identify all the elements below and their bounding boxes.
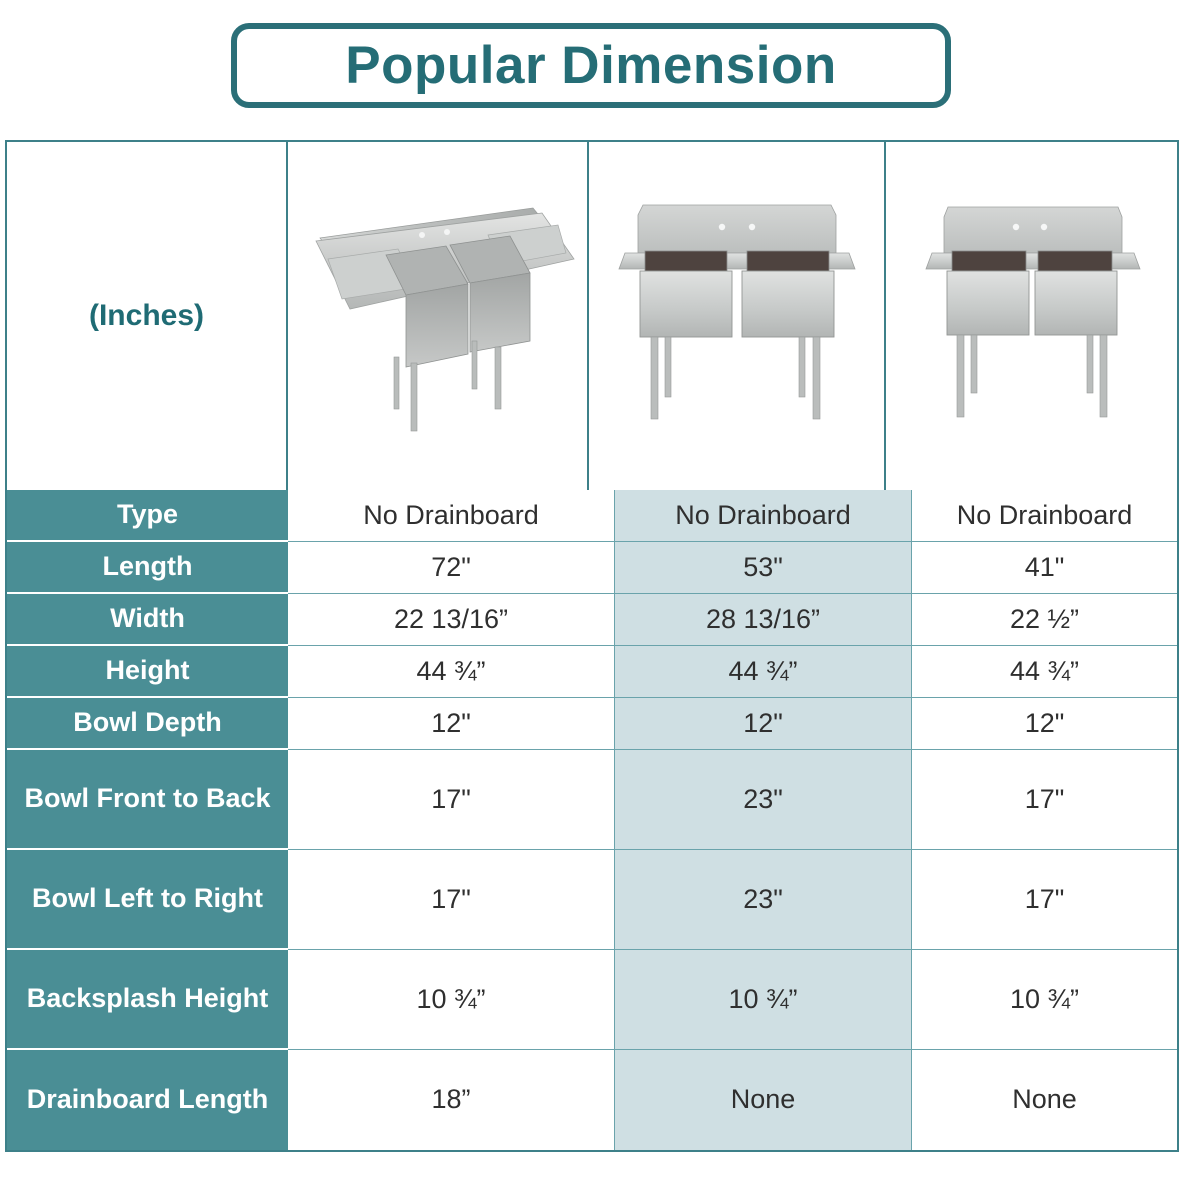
row-value: No Drainboard — [615, 490, 912, 542]
row-label: Length — [7, 542, 288, 594]
row-value: 28 13/16” — [615, 594, 912, 646]
row-value: 44 ¾” — [288, 646, 615, 698]
table-row: Bowl Depth 12" 12" 12" — [7, 698, 1177, 750]
row-label: Height — [7, 646, 288, 698]
row-value: None — [912, 1050, 1177, 1150]
two-compartment-sink-no-drainboard-wide-icon — [607, 191, 867, 441]
row-value: None — [615, 1050, 912, 1150]
product-image-cell-2 — [589, 142, 886, 490]
row-label: Type — [7, 490, 288, 542]
two-compartment-sink-no-drainboard-icon — [912, 191, 1152, 441]
row-label: Width — [7, 594, 288, 646]
product-image-row: (Inches) — [7, 142, 1177, 490]
row-value: 18” — [288, 1050, 615, 1150]
row-value: 17" — [288, 850, 615, 950]
dimension-table: (Inches) — [5, 140, 1179, 1152]
row-label: Drainboard Length — [7, 1050, 288, 1150]
row-value: 23" — [615, 850, 912, 950]
row-value: 12" — [288, 698, 615, 750]
row-value: 10 ¾” — [912, 950, 1177, 1050]
row-value: 23" — [615, 750, 912, 850]
row-value: 12" — [615, 698, 912, 750]
row-value: 17" — [912, 850, 1177, 950]
product-image-cell-1 — [288, 142, 589, 490]
row-value: 10 ¾” — [288, 950, 615, 1050]
row-value: No Drainboard — [912, 490, 1177, 542]
row-value: 10 ¾” — [615, 950, 912, 1050]
row-value: 72" — [288, 542, 615, 594]
table-row: Height 44 ¾” 44 ¾” 44 ¾” — [7, 646, 1177, 698]
two-compartment-sink-with-two-drainboards-icon — [290, 191, 586, 441]
product-image-cell-3 — [886, 142, 1177, 490]
row-label: Bowl Left to Right — [7, 850, 288, 950]
row-value: 44 ¾” — [912, 646, 1177, 698]
row-value: 17" — [912, 750, 1177, 850]
table-row: Drainboard Length 18” None None — [7, 1050, 1177, 1150]
row-label: Backsplash Height — [7, 950, 288, 1050]
row-value: 41" — [912, 542, 1177, 594]
row-label: Bowl Depth — [7, 698, 288, 750]
table-row: Bowl Front to Back 17" 23" 17" — [7, 750, 1177, 850]
page-title: Popular Dimension — [345, 39, 836, 92]
table-row: Type No Drainboard No Drainboard No Drai… — [7, 490, 1177, 542]
row-value: 17" — [288, 750, 615, 850]
row-value: 22 ½” — [912, 594, 1177, 646]
row-value: 12" — [912, 698, 1177, 750]
row-value: 22 13/16” — [288, 594, 615, 646]
table-row: Backsplash Height 10 ¾” 10 ¾” 10 ¾” — [7, 950, 1177, 1050]
row-value: 53" — [615, 542, 912, 594]
unit-label-cell: (Inches) — [7, 142, 288, 490]
table-row: Length 72" 53" 41" — [7, 542, 1177, 594]
row-value: No Drainboard — [288, 490, 615, 542]
row-value: 44 ¾” — [615, 646, 912, 698]
page-title-box: Popular Dimension — [231, 23, 951, 108]
table-row: Width 22 13/16” 28 13/16” 22 ½” — [7, 594, 1177, 646]
row-label: Bowl Front to Back — [7, 750, 288, 850]
table-row: Bowl Left to Right 17" 23" 17" — [7, 850, 1177, 950]
dimension-rows: Type No Drainboard No Drainboard No Drai… — [7, 490, 1177, 1150]
unit-label: (Inches) — [89, 299, 204, 333]
